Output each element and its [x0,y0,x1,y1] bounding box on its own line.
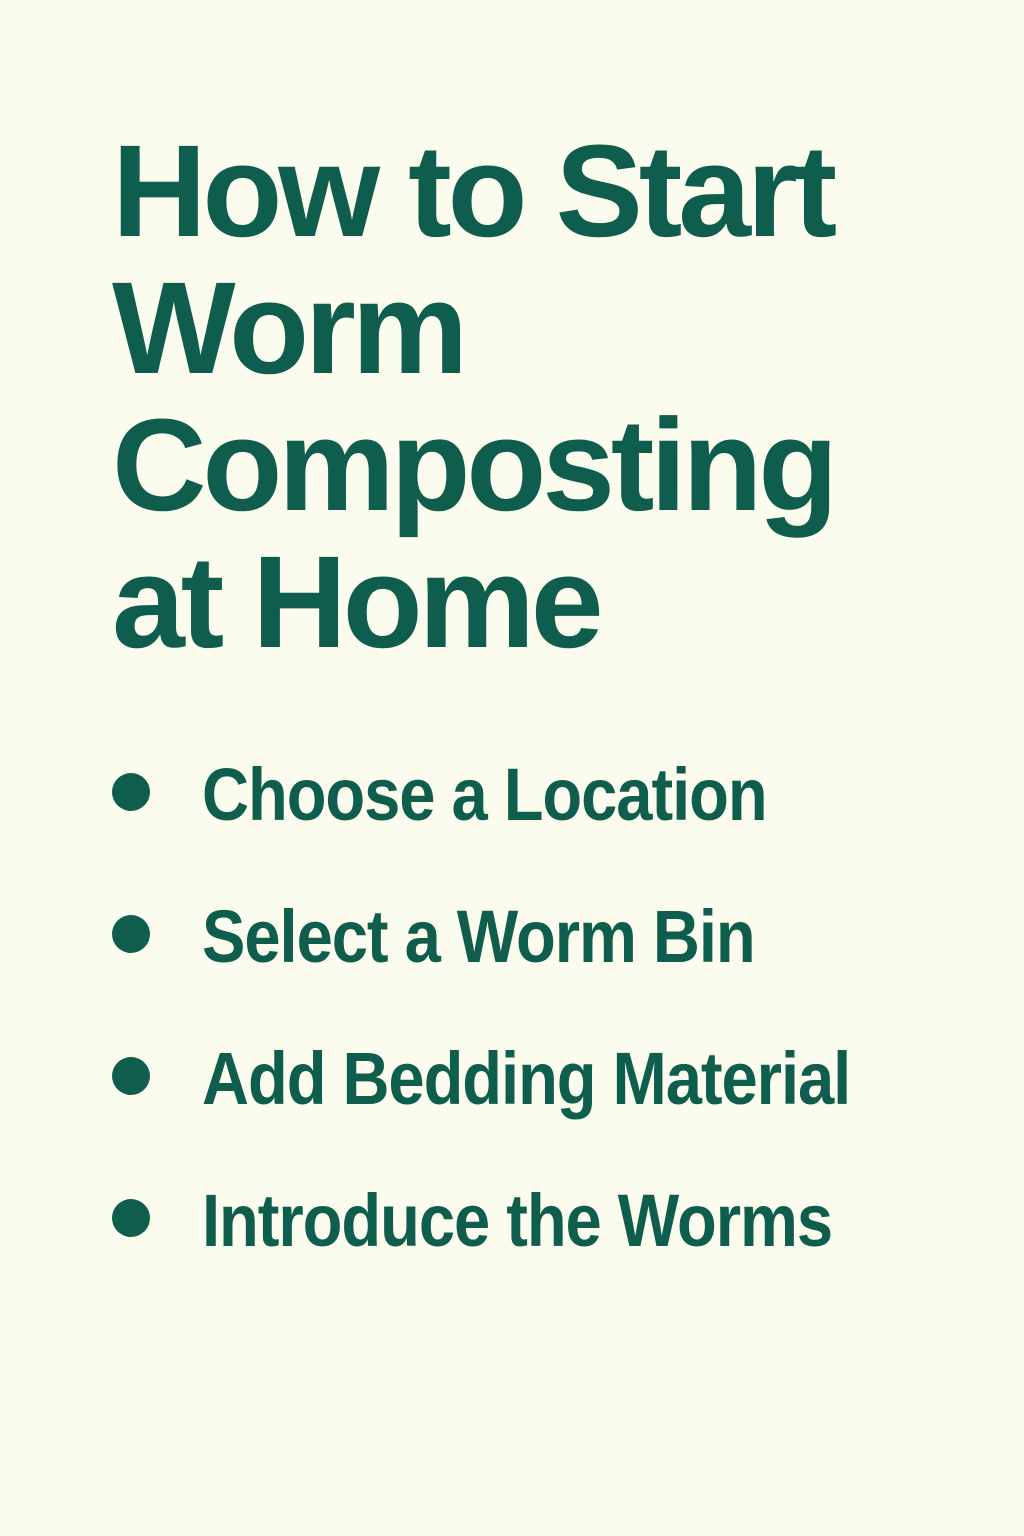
step-label-3: Add Bedding Material [202,1041,880,1117]
bullet-dot-icon [112,773,150,811]
title-line-3: Composting [112,396,912,533]
title-line-1: How to Start [112,122,912,259]
bullet-dot-icon [112,915,150,953]
page-title: How to Start Worm Composting at Home [112,122,912,670]
step-label-1: Choose a Location [202,757,880,833]
list-item: Introduce the Worms [112,1183,972,1325]
bullet-dot-icon [112,1057,150,1095]
title-line-2: Worm [112,259,912,396]
bullet-dot-icon [112,1199,150,1237]
poster-canvas: How to Start Worm Composting at Home Cho… [0,0,1024,1536]
steps-list: Choose a Location Select a Worm Bin Add … [112,757,972,1325]
list-item: Select a Worm Bin [112,899,972,1041]
title-line-4: at Home [112,533,912,670]
step-label-2: Select a Worm Bin [202,899,880,975]
step-label-4: Introduce the Worms [202,1183,880,1259]
list-item: Choose a Location [112,757,972,899]
list-item: Add Bedding Material [112,1041,972,1183]
